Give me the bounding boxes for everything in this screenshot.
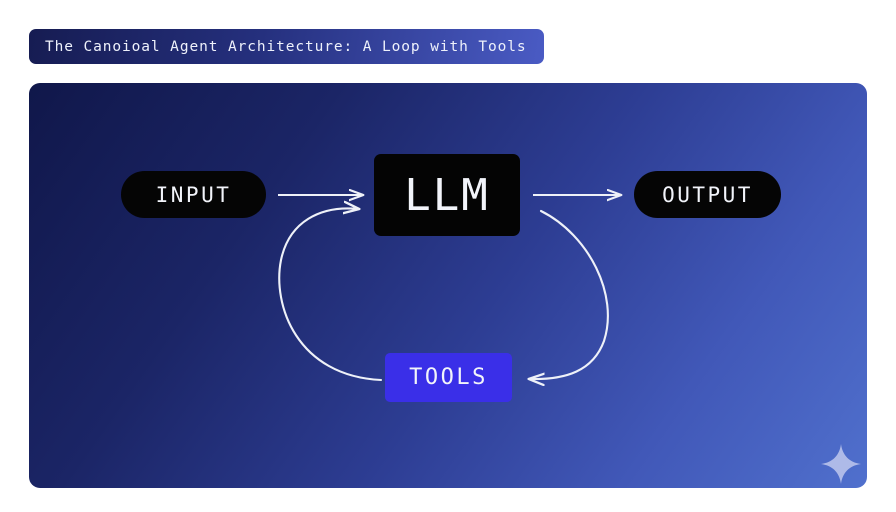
- sparkle-icon: [821, 444, 861, 484]
- node-tools-label: TOOLS: [409, 365, 488, 390]
- node-input-label: INPUT: [156, 183, 232, 207]
- node-output-label: OUTPUT: [662, 183, 753, 207]
- node-input[interactable]: INPUT: [121, 171, 266, 218]
- edge-tools-to-llm: [279, 208, 381, 380]
- diagram-edges: [29, 83, 867, 488]
- slide-canvas: The Canoioal Agent Architecture: A Loop …: [0, 0, 896, 512]
- diagram-panel: INPUT LLM OUTPUT TOOLS: [29, 83, 867, 488]
- node-llm-label: LLM: [404, 170, 489, 221]
- node-output[interactable]: OUTPUT: [634, 171, 781, 218]
- edge-llm-to-tools: [529, 211, 608, 379]
- page-title: The Canoioal Agent Architecture: A Loop …: [45, 39, 527, 55]
- node-llm[interactable]: LLM: [374, 154, 520, 236]
- slide-title-bar: The Canoioal Agent Architecture: A Loop …: [29, 29, 544, 64]
- node-tools[interactable]: TOOLS: [385, 353, 512, 402]
